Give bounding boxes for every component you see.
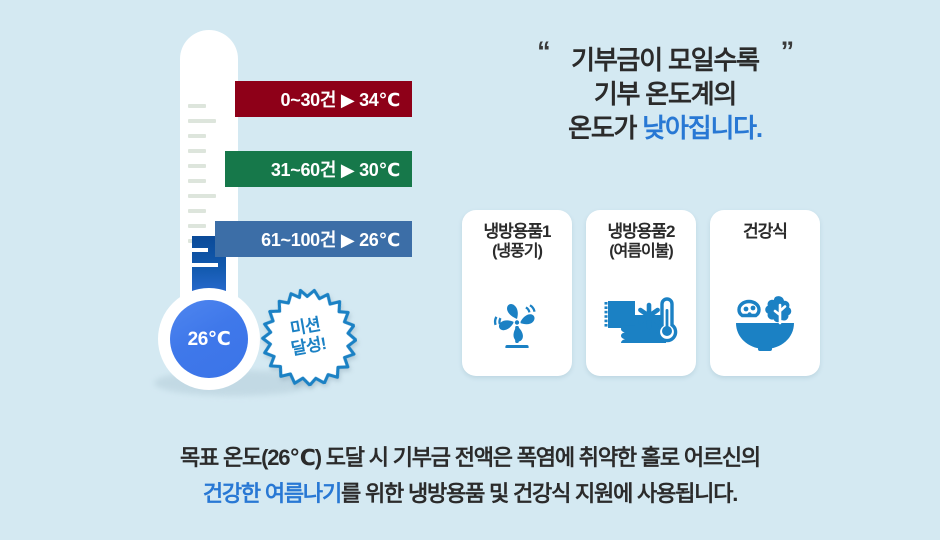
benefit-card-summer-blanket[interactable]: 냉방용품2 (여름이불) (586, 210, 696, 376)
donation-thermometer: 26℃ 0~30건 ▶ 34℃ 31~60건 ▶ 30℃ 61~100건 ▶ 2… (120, 18, 430, 398)
card-1-subtitle: (여름이불) (609, 242, 673, 262)
headline-line-3: 온도가 낮아집니다. (455, 112, 875, 146)
tier-bar-2: 61~100건 ▶ 26℃ (215, 221, 412, 257)
headline: “ 기부금이 모일수록 ” 기부 온도계의 온도가 낮아집니다. (455, 44, 875, 145)
summer-blanket-snowflake-thermometer-icon (604, 293, 678, 360)
tier-bar-1: 31~60건 ▶ 30℃ (225, 151, 412, 187)
footer-line-1: 목표 온도(26℃) 도달 시 기부금 전액은 폭염에 취약한 홀로 어르신의 (0, 440, 940, 476)
card-0-title: 냉방용품1 (483, 222, 550, 242)
thermometer-bulb-value: 26℃ (188, 328, 231, 351)
headline-line-1-wrap: “ 기부금이 모일수록 ” (455, 44, 875, 78)
benefit-card-cooling-fan[interactable]: 냉방용품1 (냉풍기) (462, 210, 572, 376)
mission-badge-line2: 달성! (290, 334, 328, 358)
healthy-food-bowl-icon (731, 293, 799, 360)
tier-bar-0-label: 0~30건 ▶ 34℃ (281, 86, 400, 112)
mission-complete-text: 미션 달성! (250, 280, 364, 394)
thermometer-bulb: 26℃ (170, 300, 248, 378)
footer-line-2-rest: 를 위한 냉방용품 및 건강식 지원에 사용됩니다. (341, 481, 737, 506)
card-2-title: 건강식 (743, 222, 787, 242)
headline-line-1: 기부금이 모일수록 (571, 45, 759, 75)
headline-line-2: 기부 온도계의 (455, 78, 875, 112)
mission-complete-badge: 미션 달성! (252, 282, 363, 393)
benefit-card-list: 냉방용품1 (냉풍기) (462, 210, 820, 376)
card-0-subtitle: (냉풍기) (492, 242, 542, 262)
card-1-title: 냉방용품2 (607, 222, 674, 242)
headline-line-3-plain: 온도가 (568, 113, 642, 143)
footer-description: 목표 온도(26℃) 도달 시 기부금 전액은 폭염에 취약한 홀로 어르신의 … (0, 440, 940, 511)
footer-line-2-accent: 건강한 여름나기 (203, 481, 341, 506)
headline-line-3-accent: 낮아집니다. (642, 113, 762, 143)
infographic-canvas: 26℃ 0~30건 ▶ 34℃ 31~60건 ▶ 30℃ 61~100건 ▶ 2… (0, 0, 940, 540)
tier-bar-2-label: 61~100건 ▶ 26℃ (261, 226, 400, 252)
quote-close-icon: ” (781, 34, 793, 69)
tier-bar-1-label: 31~60건 ▶ 30℃ (271, 156, 400, 182)
footer-line-2: 건강한 여름나기를 위한 냉방용품 및 건강식 지원에 사용됩니다. (0, 476, 940, 512)
electric-fan-icon (486, 293, 548, 360)
benefit-card-healthy-food[interactable]: 건강식 (710, 210, 820, 376)
quote-open-icon: “ (537, 34, 549, 69)
headline-line-1-inner: “ 기부금이 모일수록 ” (571, 44, 759, 78)
tier-bar-0: 0~30건 ▶ 34℃ (235, 81, 412, 117)
